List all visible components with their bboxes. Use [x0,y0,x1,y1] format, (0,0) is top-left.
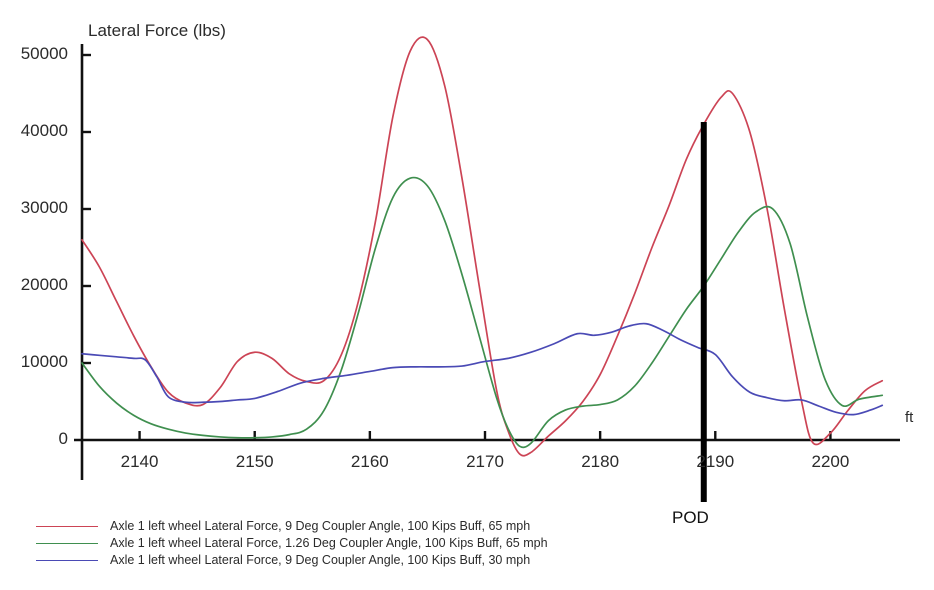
y-tick-label: 40000 [0,121,68,141]
plot-area [0,0,934,590]
legend-item-label: Axle 1 left wheel Lateral Force, 9 Deg C… [110,518,530,535]
legend-color-swatch-blue [36,560,98,561]
series-line-blue [82,324,882,415]
x-tick-label: 2170 [450,452,520,472]
y-tick-label: 30000 [0,198,68,218]
x-tick-label: 2140 [105,452,175,472]
legend-item: Axle 1 left wheel Lateral Force, 9 Deg C… [36,518,548,535]
legend-item-label: Axle 1 left wheel Lateral Force, 9 Deg C… [110,552,530,569]
chart-legend: Axle 1 left wheel Lateral Force, 9 Deg C… [36,518,548,569]
legend-color-swatch-red [36,526,98,527]
y-tick-label: 50000 [0,44,68,64]
legend-color-swatch-green [36,543,98,544]
legend-item: Axle 1 left wheel Lateral Force, 1.26 De… [36,535,548,552]
x-tick-label: 2150 [220,452,290,472]
x-tick-label: 2160 [335,452,405,472]
lateral-force-chart: Lateral Force (lbs) ft 50000400003000020… [0,0,934,590]
x-tick-label: 2200 [795,452,865,472]
pod-annotation-label: POD [672,508,709,528]
series-line-green [82,178,882,448]
data-series-layer [82,37,882,456]
x-tick-label: 2190 [680,452,750,472]
series-line-red [82,37,882,456]
y-tick-label: 20000 [0,275,68,295]
legend-item: Axle 1 left wheel Lateral Force, 9 Deg C… [36,552,548,569]
y-tick-label: 10000 [0,352,68,372]
x-tick-label: 2180 [565,452,635,472]
legend-item-label: Axle 1 left wheel Lateral Force, 1.26 De… [110,535,548,552]
y-tick-label: 0 [0,429,68,449]
